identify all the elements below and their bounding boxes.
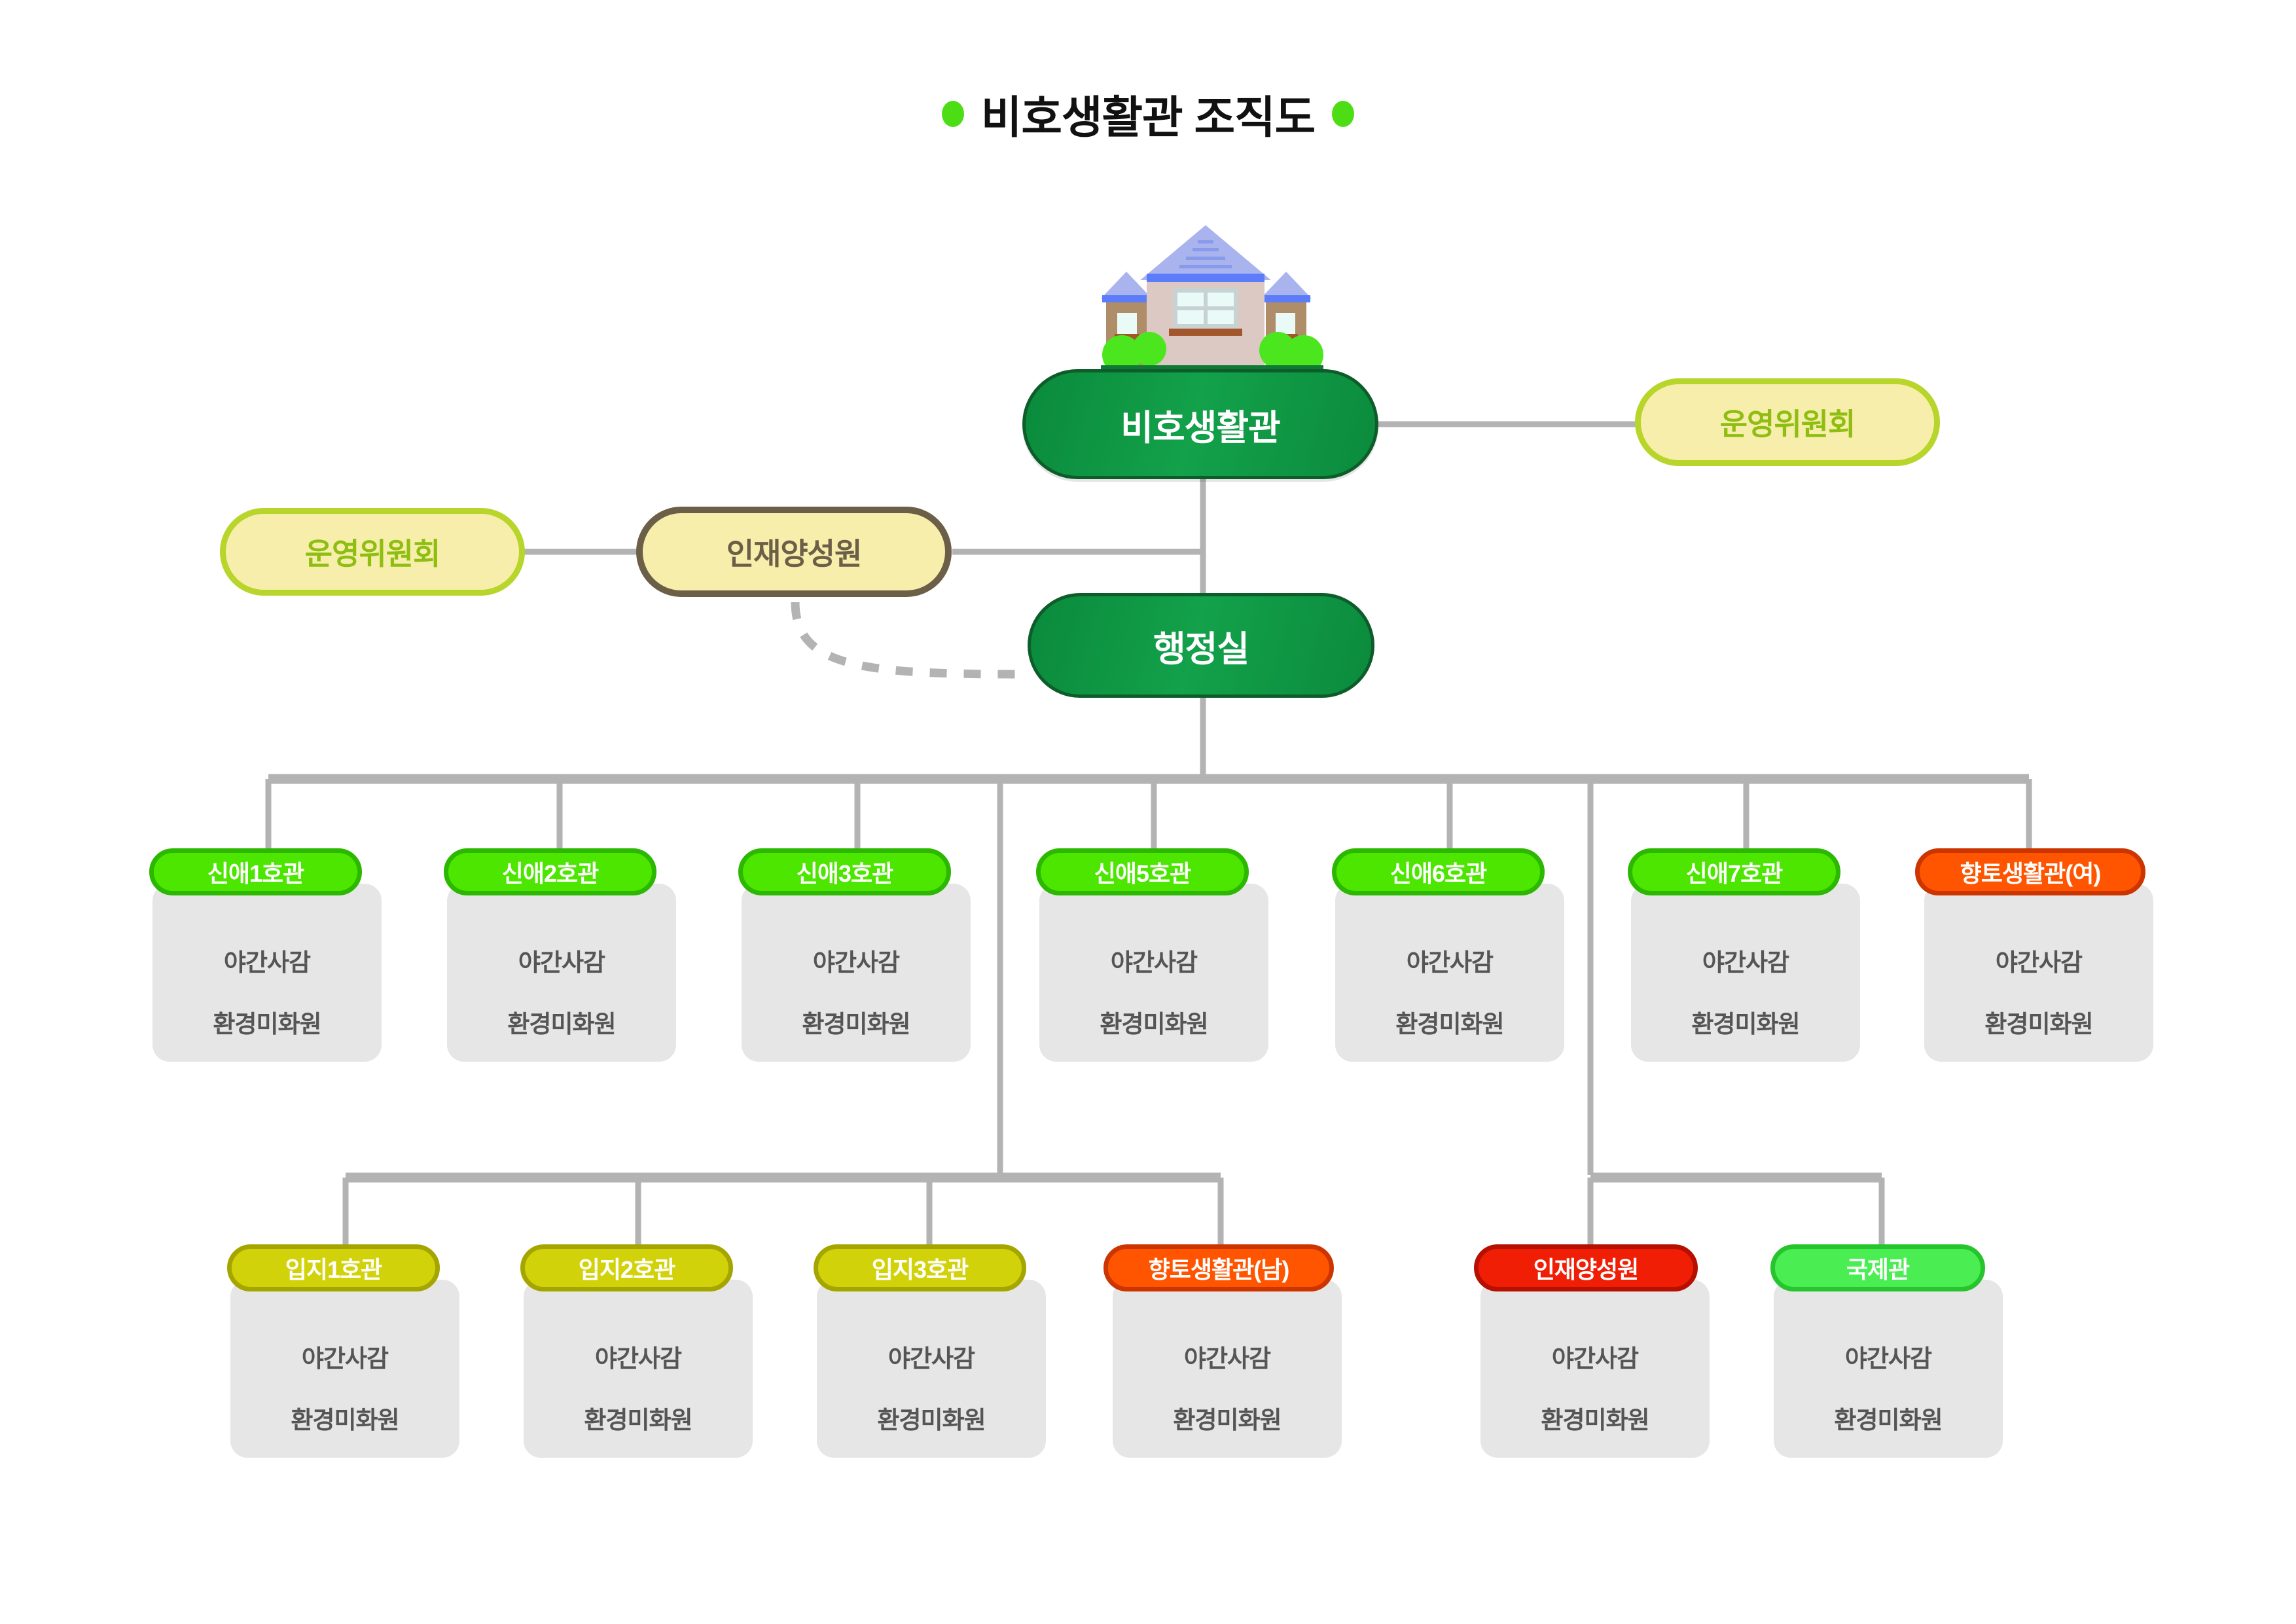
role-night-supervisor: 야간사감 — [1552, 1339, 1638, 1374]
role-cleaning-staff: 환경미화원 — [1541, 1400, 1649, 1435]
dept-card-header[interactable]: 인재양성원 — [1474, 1244, 1698, 1291]
node-committee-left-label: 운영위원회 — [305, 530, 440, 573]
dept-card-body: 야간사감 환경미화원 — [1774, 1280, 2003, 1458]
dept-card-header[interactable]: 신애7호관 — [1628, 848, 1840, 895]
dept-card-title: 신애7호관 — [1686, 855, 1783, 889]
dept-card-title: 신애6호관 — [1390, 855, 1487, 889]
org-chart-canvas: 비호생활관 조직도 — [0, 0, 2296, 1624]
node-committee-left[interactable]: 운영위원회 — [220, 508, 525, 596]
dept-card-body: 야간사감 환경미화원 — [524, 1280, 753, 1458]
node-root-biho[interactable]: 비호생활관 — [1022, 369, 1378, 479]
dept-card-body: 야간사감 환경미화원 — [1113, 1280, 1342, 1458]
dept-card-header[interactable]: 신애3호관 — [738, 848, 951, 895]
role-cleaning-staff: 환경미화원 — [1173, 1400, 1281, 1435]
dept-card-header[interactable]: 국제관 — [1770, 1244, 1985, 1291]
role-night-supervisor: 야간사감 — [1845, 1339, 1931, 1374]
dormitory-building-illustration — [1081, 216, 1343, 380]
wire-dashed-talent-to-office — [795, 602, 1021, 674]
dept-card-title: 입지1호관 — [285, 1251, 382, 1285]
dept-card-body: 야간사감 환경미화원 — [1039, 884, 1268, 1062]
role-cleaning-staff: 환경미화원 — [1834, 1400, 1942, 1435]
role-night-supervisor: 야간사감 — [1184, 1339, 1270, 1374]
dept-card-header[interactable]: 신애1호관 — [149, 848, 362, 895]
dept-card-title: 향토생활관(남) — [1149, 1251, 1289, 1285]
node-committee-right[interactable]: 운영위원회 — [1635, 378, 1940, 466]
role-cleaning-staff: 환경미화원 — [507, 1004, 615, 1039]
role-cleaning-staff: 환경미화원 — [802, 1004, 910, 1039]
dept-card-body: 야간사감 환경미화원 — [817, 1280, 1046, 1458]
dept-card-title: 신애5호관 — [1094, 855, 1191, 889]
role-night-supervisor: 야간사감 — [224, 943, 310, 978]
dept-card-title: 향토생활관(여) — [1960, 855, 2101, 889]
dept-card-header[interactable]: 입지1호관 — [227, 1244, 440, 1291]
role-night-supervisor: 야간사감 — [595, 1339, 681, 1374]
dept-card-body: 야간사감 환경미화원 — [1480, 1280, 1710, 1458]
dept-card-title: 입지3호관 — [872, 1251, 969, 1285]
node-root-label: 비호생활관 — [1121, 399, 1280, 450]
dept-card-title: 신애2호관 — [502, 855, 599, 889]
dept-card-title: 신애3호관 — [797, 855, 893, 889]
dept-card-body: 야간사감 환경미화원 — [1631, 884, 1860, 1062]
node-administrative-office[interactable]: 행정실 — [1028, 593, 1374, 698]
role-night-supervisor: 야간사감 — [1996, 943, 2082, 978]
dept-card-title: 인재양성원 — [1534, 1251, 1639, 1285]
node-talent-center[interactable]: 인재양성원 — [636, 507, 952, 597]
dept-card-body: 야간사감 환경미화원 — [1924, 884, 2153, 1062]
dept-card-header[interactable]: 입지3호관 — [814, 1244, 1026, 1291]
role-night-supervisor: 야간사감 — [518, 943, 605, 978]
role-cleaning-staff: 환경미화원 — [213, 1004, 321, 1039]
node-office-label: 행정실 — [1153, 620, 1249, 672]
dept-card-header[interactable]: 신애2호관 — [444, 848, 656, 895]
role-night-supervisor: 야간사감 — [1407, 943, 1493, 978]
dept-card-header[interactable]: 입지2호관 — [520, 1244, 733, 1291]
role-cleaning-staff: 환경미화원 — [1100, 1004, 1208, 1039]
role-night-supervisor: 야간사감 — [1702, 943, 1789, 978]
role-night-supervisor: 야간사감 — [1111, 943, 1197, 978]
node-committee-right-label: 운영위원회 — [1720, 401, 1856, 444]
role-night-supervisor: 야간사감 — [888, 1339, 975, 1374]
role-cleaning-staff: 환경미화원 — [1691, 1004, 1799, 1039]
role-cleaning-staff: 환경미화원 — [1395, 1004, 1503, 1039]
dept-card-title: 입지2호관 — [579, 1251, 675, 1285]
dept-card-title: 신애1호관 — [207, 855, 304, 889]
role-cleaning-staff: 환경미화원 — [584, 1400, 692, 1435]
dept-card-header[interactable]: 향토생활관(여) — [1915, 848, 2145, 895]
dept-card-body: 야간사감 환경미화원 — [1335, 884, 1564, 1062]
dept-card-header[interactable]: 향토생활관(남) — [1103, 1244, 1334, 1291]
role-cleaning-staff: 환경미화원 — [877, 1400, 985, 1435]
role-cleaning-staff: 환경미화원 — [291, 1400, 399, 1435]
dept-card-body: 야간사감 환경미화원 — [742, 884, 971, 1062]
dept-card-body: 야간사감 환경미화원 — [447, 884, 676, 1062]
role-night-supervisor: 야간사감 — [302, 1339, 388, 1374]
dept-card-header[interactable]: 신애5호관 — [1036, 848, 1249, 895]
dept-card-body: 야간사감 환경미화원 — [152, 884, 382, 1062]
role-night-supervisor: 야간사감 — [813, 943, 899, 978]
dept-card-body: 야간사감 환경미화원 — [230, 1280, 459, 1458]
dept-card-header[interactable]: 신애6호관 — [1332, 848, 1545, 895]
role-cleaning-staff: 환경미화원 — [1984, 1004, 2092, 1039]
node-talent-center-label: 인재양성원 — [726, 530, 862, 573]
dept-card-title: 국제관 — [1846, 1251, 1909, 1285]
